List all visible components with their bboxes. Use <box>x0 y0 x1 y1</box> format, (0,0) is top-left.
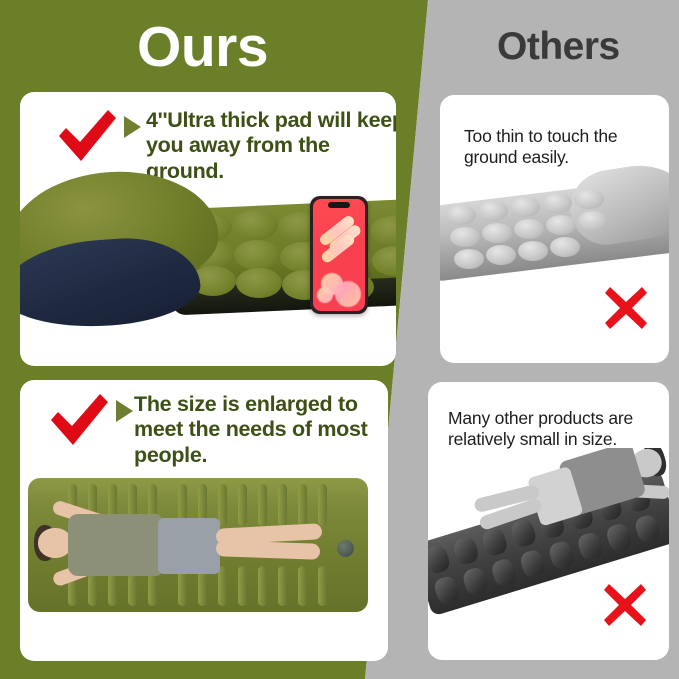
red-check-icon <box>56 106 118 168</box>
person-shorts <box>158 518 220 574</box>
pad-baffle <box>236 268 282 298</box>
others-card-1-text: Too thin to touch the ground easily. <box>464 126 664 169</box>
person-head <box>38 528 72 558</box>
others-card-2: Many other products are relatively small… <box>428 382 669 660</box>
ours-card-1: 4''Ultra thick pad will keep you away fr… <box>20 92 396 366</box>
red-cross-icon <box>603 285 649 331</box>
red-cross-icon <box>602 582 648 628</box>
pad-baffle <box>234 240 280 270</box>
others-title: Others <box>497 25 620 69</box>
phone-notch <box>328 202 350 208</box>
comparison-infographic: Ours Others 4''Ultra thick pad will keep… <box>0 0 679 679</box>
ours-card-2-photo <box>28 464 380 634</box>
person-torso <box>68 514 162 576</box>
pad-baffle <box>232 210 278 240</box>
others-card-2-text: Many other products are relatively small… <box>448 408 658 451</box>
ours-card-2-header: The size is enlarged to meet the needs o… <box>20 380 388 466</box>
person-lying-on-pad <box>32 488 318 602</box>
ours-card-2: The size is enlarged to meet the needs o… <box>20 380 388 661</box>
green-triangle-bullet-icon <box>124 116 141 138</box>
pad-valve <box>337 540 354 557</box>
phone-for-scale <box>310 196 368 314</box>
phone-screen <box>313 199 365 311</box>
person-leg <box>216 540 320 560</box>
ours-card-1-photo <box>20 166 396 366</box>
ours-card-2-text: The size is enlarged to meet the needs o… <box>134 392 388 468</box>
red-check-icon <box>48 390 110 452</box>
others-card-1: Too thin to touch the ground easily. <box>440 95 669 363</box>
green-triangle-bullet-icon <box>116 400 133 422</box>
ours-title: Ours <box>137 14 268 80</box>
